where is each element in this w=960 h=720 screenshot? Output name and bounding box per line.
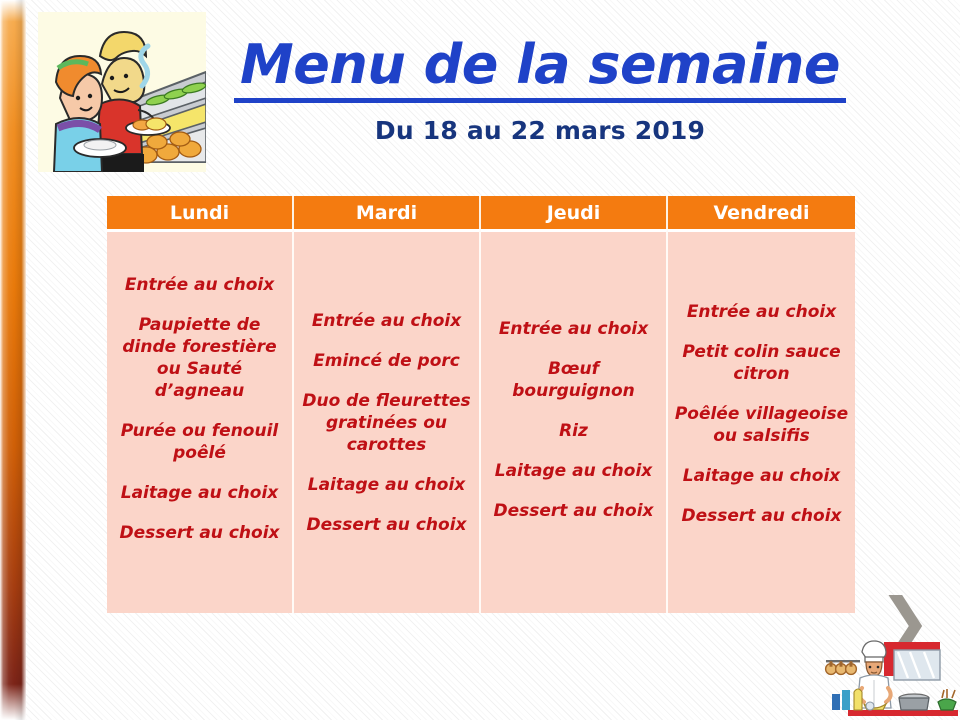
menu-cell-jeudi: Entrée au choix Bœuf bourguignon Riz Lai… [481,229,668,613]
menu-cell-vendredi: Entrée au choix Petit colin sauce citron… [668,229,855,613]
menu-item: Laitage au choix [487,460,660,482]
cafeteria-clipart-icon [38,12,206,172]
chef-clipart-icon [818,638,960,720]
menu-item: Dessert au choix [487,500,660,522]
menu-item: Poêlée villageoise ou salsifis [674,403,849,447]
title-block: Menu de la semaine Du 18 au 22 mars 2019 [210,34,870,145]
menu-item: Petit colin sauce citron [674,341,849,385]
menu-item: Dessert au choix [674,505,849,527]
menu-item: Laitage au choix [300,474,473,496]
menu-item: Paupiette de dinde forestière ou Sauté d… [113,314,286,402]
menu-item: Bœuf bourguignon [487,358,660,402]
menu-item: Emincé de porc [300,350,473,372]
table-body-row: Entrée au choix Paupiette de dinde fores… [107,229,855,613]
menu-item: Laitage au choix [113,482,286,504]
menu-item: Entrée au choix [674,301,849,323]
menu-item: Duo de fleurettes gratinées ou carottes [300,390,473,456]
slide-canvas: Menu de la semaine Du 18 au 22 mars 2019… [0,0,960,720]
menu-cell-lundi: Entrée au choix Paupiette de dinde fores… [107,229,294,613]
menu-item: Purée ou fenouil poêlé [113,420,286,464]
menu-item: Dessert au choix [113,522,286,544]
menu-item: Entrée au choix [113,274,286,296]
left-accent-stripe [0,0,26,720]
column-header-lundi: Lundi [107,196,294,229]
menu-cell-mardi: Entrée au choix Emincé de porc Duo de fl… [294,229,481,613]
left-accent-stripe-gloss [0,0,26,720]
menu-item: Entrée au choix [300,310,473,332]
menu-item: Riz [487,420,660,442]
column-header-jeudi: Jeudi [481,196,668,229]
menu-table: Lundi Mardi Jeudi Vendredi Entrée au cho… [107,196,855,613]
menu-item: Laitage au choix [674,465,849,487]
column-header-mardi: Mardi [294,196,481,229]
page-title: Menu de la semaine [234,34,846,103]
menu-item: Dessert au choix [300,514,473,536]
page-subtitle: Du 18 au 22 mars 2019 [210,116,870,145]
column-header-vendredi: Vendredi [668,196,855,229]
menu-item: Entrée au choix [487,318,660,340]
table-header-row: Lundi Mardi Jeudi Vendredi [107,196,855,229]
